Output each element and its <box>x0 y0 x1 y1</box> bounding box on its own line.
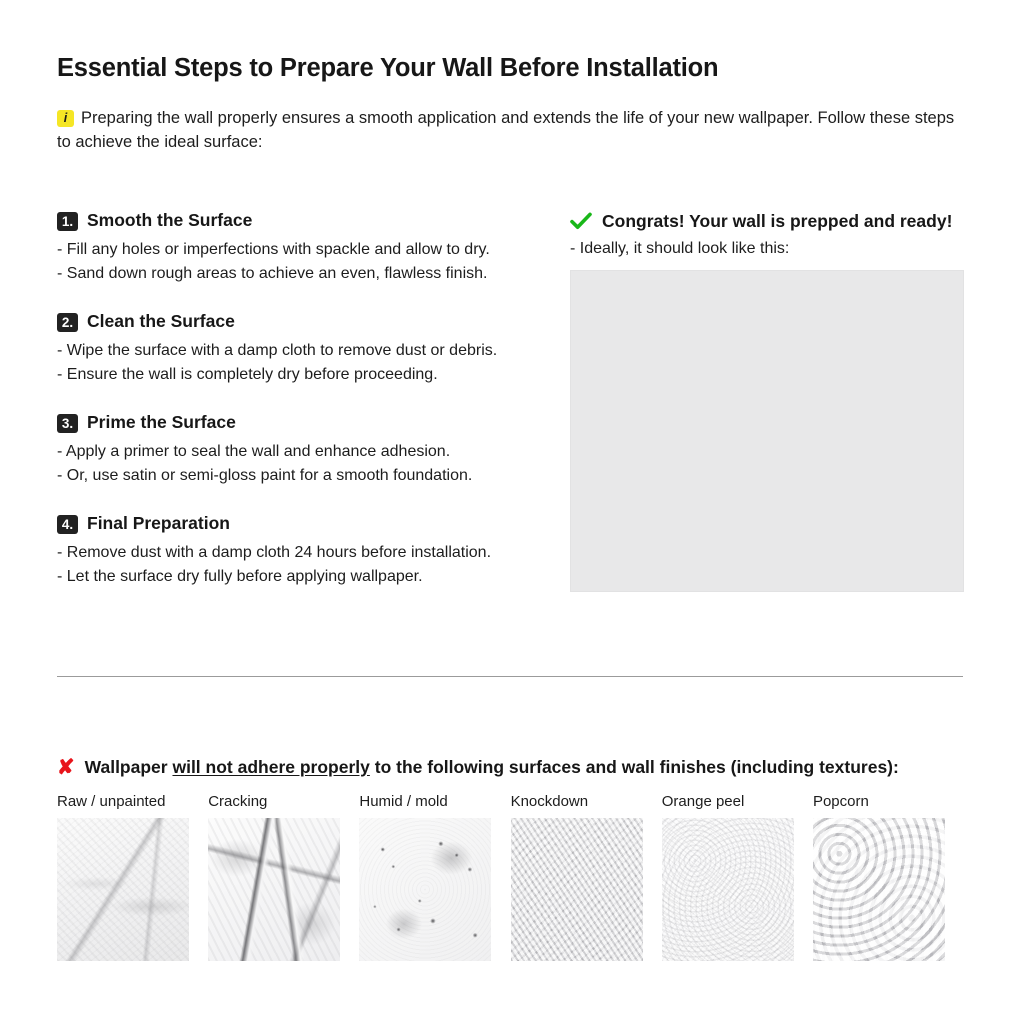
step-number-badge: 3. <box>57 414 78 433</box>
steps-column: 1. Smooth the Surface - Fill any holes o… <box>57 210 547 588</box>
surface-cell: Popcorn <box>813 793 945 961</box>
step-number-badge: 1. <box>57 212 78 231</box>
step-title: Prime the Surface <box>87 412 236 433</box>
prepped-wall-preview <box>570 270 964 592</box>
step-heading: 2. Clean the Surface <box>57 311 547 333</box>
warning-heading: ✘ Wallpaper will not adhere properly to … <box>57 757 899 778</box>
step-number-badge: 2. <box>57 313 78 332</box>
intro-text: Preparing the wall properly ensures a sm… <box>57 109 954 151</box>
step-bullet: - Or, use satin or semi-gloss paint for … <box>57 464 547 488</box>
surface-thumbnail-raw-unpainted <box>57 818 189 961</box>
step-title: Clean the Surface <box>87 311 235 332</box>
intro-paragraph: iPreparing the wall properly ensures a s… <box>57 106 972 154</box>
warning-text-after: to the following surfaces and wall finis… <box>375 757 899 778</box>
step-bullet: - Ensure the wall is completely dry befo… <box>57 363 547 387</box>
wall-preparation-guide: Essential Steps to Prepare Your Wall Bef… <box>0 0 1024 1024</box>
step-item: 4. Final Preparation - Remove dust with … <box>57 513 547 588</box>
step-bullet: - Remove dust with a damp cloth 24 hours… <box>57 541 547 565</box>
step-number-badge: 4. <box>57 515 78 534</box>
step-bullet: - Let the surface dry fully before apply… <box>57 565 547 589</box>
step-bullet: - Apply a primer to seal the wall and en… <box>57 440 547 464</box>
success-heading: Congrats! Your wall is prepped and ready… <box>570 210 970 232</box>
surface-label: Humid / mold <box>359 793 491 811</box>
success-heading-text: Congrats! Your wall is prepped and ready… <box>602 211 952 232</box>
surface-label: Orange peel <box>662 793 794 811</box>
step-bullet: - Sand down rough areas to achieve an ev… <box>57 262 547 286</box>
step-bullets: - Fill any holes or imperfections with s… <box>57 238 547 285</box>
step-title: Smooth the Surface <box>87 210 252 231</box>
step-heading: 1. Smooth the Surface <box>57 210 547 232</box>
surface-label: Popcorn <box>813 793 945 811</box>
surface-thumbnail-cracking <box>208 818 340 961</box>
step-bullets: - Wipe the surface with a damp cloth to … <box>57 339 547 386</box>
surface-thumbnail-humid-mold <box>359 818 491 961</box>
step-heading: 3. Prime the Surface <box>57 412 547 434</box>
warning-text-underlined: will not adhere properly <box>172 757 369 778</box>
surface-cell: Knockdown <box>511 793 643 961</box>
success-column: Congrats! Your wall is prepped and ready… <box>570 210 970 592</box>
step-bullet: - Wipe the surface with a damp cloth to … <box>57 339 547 363</box>
step-bullet: - Fill any holes or imperfections with s… <box>57 238 547 262</box>
surface-thumbnail-orange-peel <box>662 818 794 961</box>
surface-label: Cracking <box>208 793 340 811</box>
page-title: Essential Steps to Prepare Your Wall Bef… <box>57 54 718 83</box>
surface-cell: Humid / mold <box>359 793 491 961</box>
step-heading: 4. Final Preparation <box>57 513 547 535</box>
step-bullets: - Remove dust with a damp cloth 24 hours… <box>57 541 547 588</box>
surface-thumbnail-knockdown <box>511 818 643 961</box>
surface-cell: Raw / unpainted <box>57 793 189 961</box>
info-icon: i <box>57 110 74 127</box>
warning-text-before: Wallpaper <box>85 757 168 778</box>
x-mark-icon: ✘ <box>57 757 75 778</box>
section-divider <box>57 676 963 677</box>
surface-cell: Cracking <box>208 793 340 961</box>
check-icon <box>570 212 592 230</box>
surface-cell: Orange peel <box>662 793 794 961</box>
step-item: 1. Smooth the Surface - Fill any holes o… <box>57 210 547 285</box>
step-item: 3. Prime the Surface - Apply a primer to… <box>57 412 547 487</box>
success-subtext: - Ideally, it should look like this: <box>570 237 970 260</box>
step-bullets: - Apply a primer to seal the wall and en… <box>57 440 547 487</box>
step-item: 2. Clean the Surface - Wipe the surface … <box>57 311 547 386</box>
step-title: Final Preparation <box>87 513 230 534</box>
surface-thumbnail-popcorn <box>813 818 945 961</box>
surface-label: Raw / unpainted <box>57 793 189 811</box>
surface-label: Knockdown <box>511 793 643 811</box>
unsuitable-surfaces-grid: Raw / unpainted Cracking Humid / mold Kn… <box>57 793 963 961</box>
